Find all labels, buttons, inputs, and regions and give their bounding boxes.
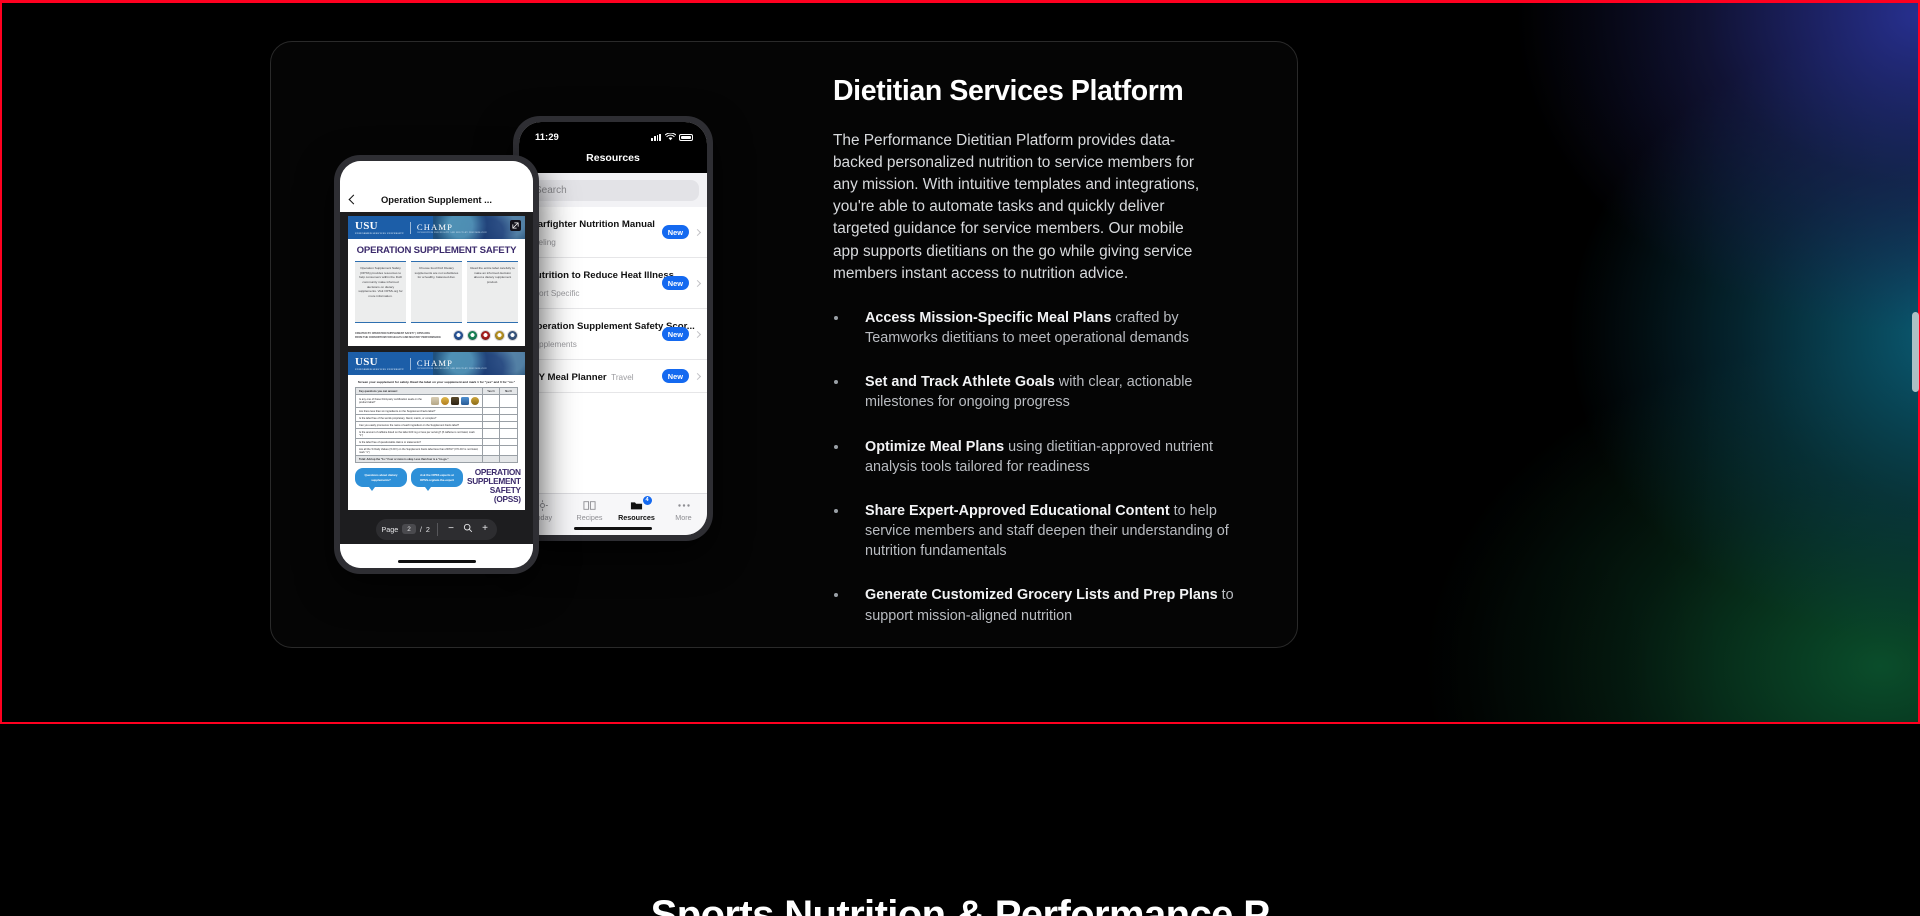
battery-icon [679, 134, 693, 141]
table-cell [483, 408, 500, 414]
pdf-footer-line1: CREATED BY OPERATION SUPPLEMENT SAFETY |… [355, 332, 430, 335]
tab-more[interactable]: More [660, 498, 707, 522]
pdf-column: Operation Supplement Safety (OPSS) provi… [355, 261, 406, 323]
usu-logo-sub: UNIFORMED SERVICES UNIVERSITY [355, 232, 404, 235]
tab-label: More [675, 513, 691, 522]
table-cell: Are there less than six ingredients on t… [356, 408, 483, 414]
page-separator: / [420, 525, 422, 534]
feature-item-bold: Access Mission-Specific Meal Plans [865, 310, 1111, 326]
external-link-icon[interactable] [510, 220, 521, 231]
list-item[interactable]: DIY Meal Planner Travel New [519, 360, 707, 393]
status-badge: New [662, 276, 689, 290]
list-item-text: Warfighter Nutrition Manual Fueling [529, 214, 657, 250]
chevron-right-icon [694, 372, 701, 379]
table-cell [483, 446, 500, 455]
table-row: Is any one of these third-party certific… [356, 395, 517, 408]
table-cell [500, 446, 517, 455]
agency-seals [453, 330, 518, 341]
pdf-title: Operation Supplement ... [340, 194, 533, 205]
current-page-input[interactable]: 2 [402, 524, 416, 534]
table-row: Is the amount of caffeine listed on the … [356, 429, 517, 439]
table-cell: Are all the % Daily Values (% DV) on the… [356, 446, 483, 455]
pdf-page1-header: USU UNIFORMED SERVICES UNIVERSITY CHAMP … [348, 216, 525, 239]
pdf-page1-columns: Operation Supplement Safety (OPSS) provi… [348, 261, 525, 327]
resources-screen: 11:29 Resources Search [519, 122, 707, 535]
status-icons [651, 133, 693, 141]
signal-bars-icon [651, 134, 661, 141]
champ-logo-sub: CONSORTIUM FOR HEALTH AND MILITARY PERFO… [417, 368, 487, 370]
chevron-right-icon [694, 279, 701, 286]
seal-icon [480, 330, 491, 341]
table-header-row: Key questions you can answer: Yes=1 No=0 [356, 388, 517, 395]
pdf-page2-header: USU UNIFORMED SERVICES UNIVERSITY CHAMP … [348, 352, 525, 375]
table-cell: Is the label free of the words proprieta… [356, 415, 483, 421]
cert-icon [451, 397, 459, 405]
pdf-top-spacer [340, 161, 533, 186]
pdf-toolbar: Page 2 / 2 − + [340, 514, 533, 544]
table-row: Is the label free of questionable claims… [356, 439, 517, 446]
ellipsis-icon [660, 498, 707, 513]
table-cell [483, 422, 500, 428]
pdf-page1-headline: OPERATION SUPPLEMENT SAFETY [348, 239, 525, 261]
pdf-page1-footer: CREATED BY OPERATION SUPPLEMENT SAFETY |… [348, 327, 525, 346]
phone-mockup-pdf: Operation Supplement ... USU UNIFORMED S… [334, 155, 539, 574]
cert-icon [461, 397, 469, 405]
usu-logo-sub: UNIFORMED SERVICES UNIVERSITY [355, 368, 404, 371]
table-cell [483, 395, 500, 407]
feature-item: Share Expert-Approved Educational Conten… [833, 501, 1253, 561]
table-cell [500, 429, 517, 438]
list-item-text: DIY Meal Planner Travel [529, 367, 657, 385]
list-item-title: Warfighter Nutrition Manual [529, 219, 655, 230]
feature-item-bold: Optimize Meal Plans [865, 439, 1004, 455]
scrollbar-track[interactable] [1911, 0, 1920, 724]
table-cell: Total: Add up the "1s." Four or more is … [356, 456, 483, 462]
scorecard-bottom: Questions about dietary supplements? Ask… [348, 463, 525, 510]
pdf-screen: Operation Supplement ... USU UNIFORMED S… [340, 161, 533, 568]
table-cell: Can you easily pronounce the name of eac… [356, 422, 483, 428]
search-input[interactable]: Search [527, 180, 699, 201]
minus-icon[interactable]: − [445, 524, 458, 534]
folder-icon: 4 [613, 498, 660, 513]
phone-mockup-resources: 11:29 Resources Search [513, 116, 713, 541]
feature-item-bold: Share Expert-Approved Educational Conten… [865, 503, 1170, 519]
list-item-text: Operation Supplement Safety Scor... Supp… [529, 316, 657, 352]
feature-card: 11:29 Resources Search [270, 41, 1298, 648]
status-badge: New [662, 369, 689, 383]
table-cell [500, 422, 517, 428]
pdf-page-1: USU UNIFORMED SERVICES UNIVERSITY CHAMP … [348, 216, 525, 346]
pdf-column: Read the entire label carefully to make … [467, 261, 518, 323]
table-cell: Is the amount of caffeine listed on the … [356, 429, 483, 438]
chevron-right-icon [694, 228, 701, 235]
usu-logo: USU UNIFORMED SERVICES UNIVERSITY [355, 356, 404, 371]
wifi-icon [665, 133, 676, 141]
resources-list: Warfighter Nutrition Manual Fueling New … [519, 207, 707, 493]
table-cell [500, 456, 517, 462]
table-cell [500, 439, 517, 445]
seal-icon [467, 330, 478, 341]
table-row: Is the label free of the words proprieta… [356, 415, 517, 422]
feature-item-bold: Set and Track Athlete Goals [865, 374, 1055, 390]
list-item-subtitle: Travel [611, 373, 633, 382]
book-icon [566, 498, 613, 513]
page-label: Page [381, 525, 398, 534]
table-cell [500, 408, 517, 414]
feature-item: Generate Customized Grocery Lists and Pr… [833, 585, 1253, 625]
usu-logo: USU UNIFORMED SERVICES UNIVERSITY [355, 220, 404, 235]
chevron-left-icon[interactable] [349, 194, 359, 204]
list-item[interactable]: Operation Supplement Safety Scor... Supp… [519, 309, 707, 360]
list-item-title: DIY Meal Planner [529, 372, 607, 383]
opss-logo-line3: SAFETY (OPSS) [490, 485, 521, 504]
table-cell: Is the label free of questionable claims… [356, 439, 483, 445]
table-row: Are all the % Daily Values (% DV) on the… [356, 446, 517, 456]
tab-badge: 4 [643, 496, 652, 505]
pdf-bottom-spacer [340, 544, 533, 568]
table-cell: Is any one of these third-party certific… [356, 395, 483, 407]
home-indicator [574, 527, 652, 530]
plus-icon[interactable]: + [479, 524, 492, 534]
scorecard-table: Key questions you can answer: Yes=1 No=0… [355, 387, 518, 463]
resources-nav-title: Resources [519, 152, 707, 173]
feature-item: Optimize Meal Plans using dietitian-appr… [833, 437, 1253, 477]
table-cell [500, 395, 517, 407]
intro-paragraph: The Performance Dietitian Platform provi… [833, 130, 1205, 285]
page-root: 11:29 Resources Search [0, 0, 1920, 916]
table-row: Are there less than six ingredients on t… [356, 408, 517, 415]
table-row: Can you easily pronounce the name of eac… [356, 422, 517, 429]
column-header: No=0 [500, 388, 517, 394]
chevron-right-icon [694, 330, 701, 337]
cert-icon [471, 397, 479, 405]
column-header: Yes=1 [483, 388, 500, 394]
feature-item: Set and Track Athlete Goals with clear, … [833, 372, 1253, 412]
cert-icon [441, 397, 449, 405]
callout-bubble: Ask the OPSS experts at OPSS.org/ask-the… [411, 468, 463, 487]
table-cell [483, 429, 500, 438]
magnifier-icon[interactable] [462, 523, 475, 536]
pdf-page-controls: Page 2 / 2 − + [376, 519, 496, 540]
list-item[interactable]: Nutrition to Reduce Heat Illness Sport S… [519, 258, 707, 309]
feature-item: Access Mission-Specific Meal Plans craft… [833, 308, 1253, 348]
callout-bubble: Questions about dietary supplements? [355, 468, 407, 487]
search-container: Search [519, 173, 707, 207]
pdf-column: Choose food first! Dietary supplements a… [411, 261, 462, 323]
list-item-title: Nutrition to Reduce Heat Illness [529, 270, 674, 281]
list-item[interactable]: Warfighter Nutrition Manual Fueling New [519, 207, 707, 258]
pdf-footer-line2: FROM THE CONSORTIUM FOR HEALTH AND MILIT… [355, 336, 441, 339]
list-item-text: Nutrition to Reduce Heat Illness Sport S… [529, 265, 657, 301]
callout-bubbles: Questions about dietary supplements? Ask… [355, 468, 463, 487]
status-badge: New [662, 327, 689, 341]
table-cell [483, 415, 500, 421]
text-column: Dietitian Services Platform The Performa… [833, 75, 1263, 626]
seal-icon [453, 330, 464, 341]
tab-label: Resources [618, 513, 655, 522]
seal-icon [507, 330, 518, 341]
column-header: Key questions you can answer: [356, 388, 483, 394]
status-time: 11:29 [535, 132, 559, 143]
table-total-row: Total: Add up the "1s." Four or more is … [356, 456, 517, 462]
next-section-heading: Sports Nutrition & Performance P [0, 893, 1920, 916]
seal-icon [494, 330, 505, 341]
tab-recipes[interactable]: Recipes [566, 498, 613, 522]
page-title: Dietitian Services Platform [833, 75, 1263, 108]
pdf-page-2: USU UNIFORMED SERVICES UNIVERSITY CHAMP … [348, 352, 525, 510]
status-bar: 11:29 [519, 122, 707, 152]
cert-icon [431, 397, 439, 405]
divider [437, 523, 438, 536]
table-cell [500, 415, 517, 421]
pdf-nav-bar: Operation Supplement ... [340, 186, 533, 212]
scorecard-intro: Screen your supplement for safety. Read … [348, 375, 525, 387]
table-cell [483, 456, 500, 462]
champ-logo-sub: CONSORTIUM FOR HEALTH AND MILITARY PERFO… [417, 232, 487, 234]
feature-list: Access Mission-Specific Meal Plans craft… [833, 308, 1263, 626]
feature-item-bold: Generate Customized Grocery Lists and Pr… [865, 587, 1218, 603]
table-cell-text: Is any one of these third-party certific… [359, 398, 425, 404]
status-badge: New [662, 225, 689, 239]
certification-seals [431, 397, 479, 405]
champ-logo: CHAMP CONSORTIUM FOR HEALTH AND MILITARY… [410, 222, 487, 234]
pdf-footer-text: CREATED BY OPERATION SUPPLEMENT SAFETY |… [355, 332, 441, 340]
pdf-document-body[interactable]: USU UNIFORMED SERVICES UNIVERSITY CHAMP … [340, 212, 533, 514]
champ-logo: CHAMP CONSORTIUM FOR HEALTH AND MILITARY… [410, 358, 487, 370]
home-indicator [398, 560, 476, 563]
table-cell [483, 439, 500, 445]
total-pages: 2 [426, 525, 430, 534]
scrollbar-thumb[interactable] [1912, 312, 1919, 392]
opss-logo: OPERATION SUPPLEMENT SAFETY (OPSS) [467, 468, 521, 504]
tab-resources[interactable]: 4 Resources [613, 498, 660, 522]
tab-label: Recipes [577, 513, 603, 522]
